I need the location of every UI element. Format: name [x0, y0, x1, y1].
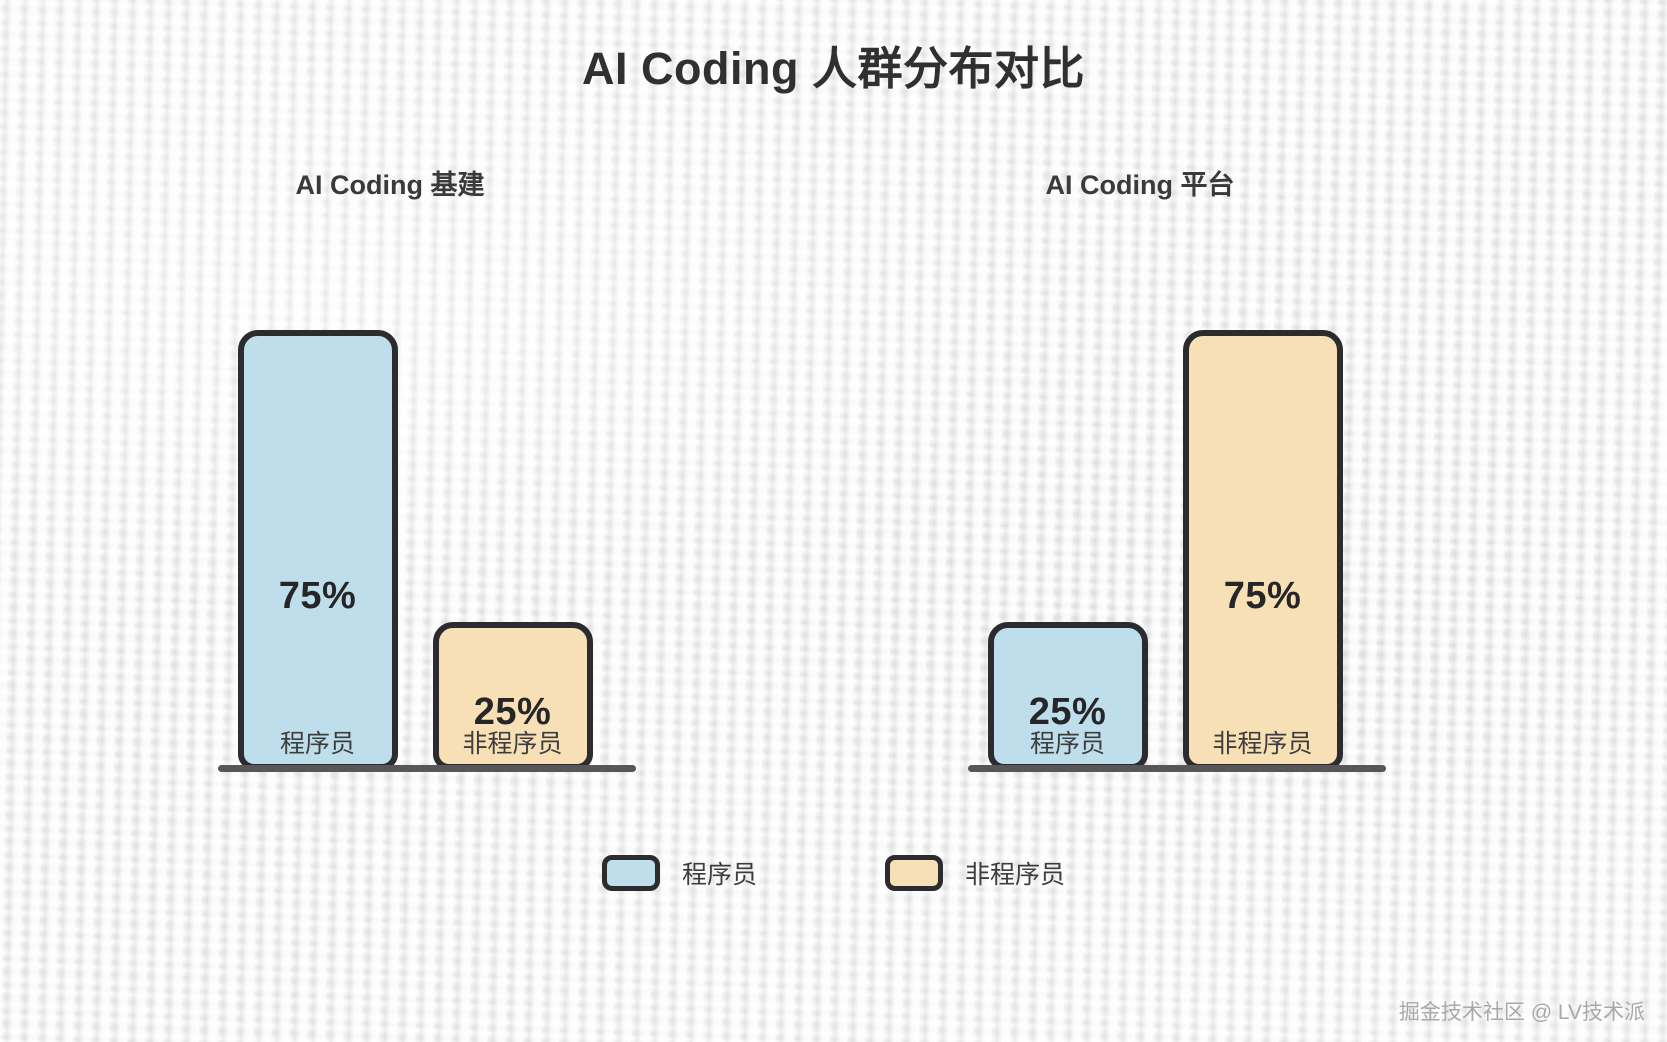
bar-value-label: 75%: [1224, 575, 1302, 618]
page-title: AI Coding 人群分布对比: [0, 32, 1667, 97]
bar-value-label: 75%: [279, 575, 357, 618]
chart-canvas: AI Coding 人群分布对比 AI Coding 基建 75% 程序员 25…: [0, 0, 1667, 1042]
plot-area-left: 75% 程序员 25% 非程序员: [220, 300, 610, 770]
bar-slot: 25% 非程序员: [433, 300, 593, 770]
bar-slot: 25% 程序员: [988, 300, 1148, 770]
category-label: 非程序员: [1143, 724, 1383, 760]
panel-ai-coding-infra: 75% 程序员 25% 非程序员: [180, 300, 650, 840]
bar-slot: 75% 程序员: [238, 300, 398, 770]
panel-title-right: AI Coding 平台: [890, 163, 1390, 202]
legend-item-programmer[interactable]: 程序员: [602, 855, 757, 891]
axis-baseline-right: [968, 765, 1386, 772]
legend-label: 非程序员: [965, 855, 1065, 891]
legend-label: 程序员: [682, 855, 757, 891]
legend-swatch-icon: [885, 855, 943, 891]
panel-ai-coding-platform: 25% 程序员 75% 非程序员: [930, 300, 1400, 840]
legend-swatch-icon: [602, 855, 660, 891]
bar-left-programmer[interactable]: 75%: [238, 330, 398, 770]
chart-legend: 程序员 非程序员: [0, 855, 1667, 891]
plot-area-right: 25% 程序员 75% 非程序员: [970, 300, 1360, 770]
legend-item-non-programmer[interactable]: 非程序员: [885, 855, 1065, 891]
bar-right-non-programmer[interactable]: 75%: [1183, 330, 1343, 770]
watermark: 掘金技术社区 @ LV技术派: [1399, 996, 1645, 1026]
bar-slot: 75% 非程序员: [1183, 300, 1343, 770]
panel-title-left: AI Coding 基建: [140, 163, 640, 202]
axis-baseline-left: [218, 765, 636, 772]
category-label: 非程序员: [393, 724, 633, 760]
